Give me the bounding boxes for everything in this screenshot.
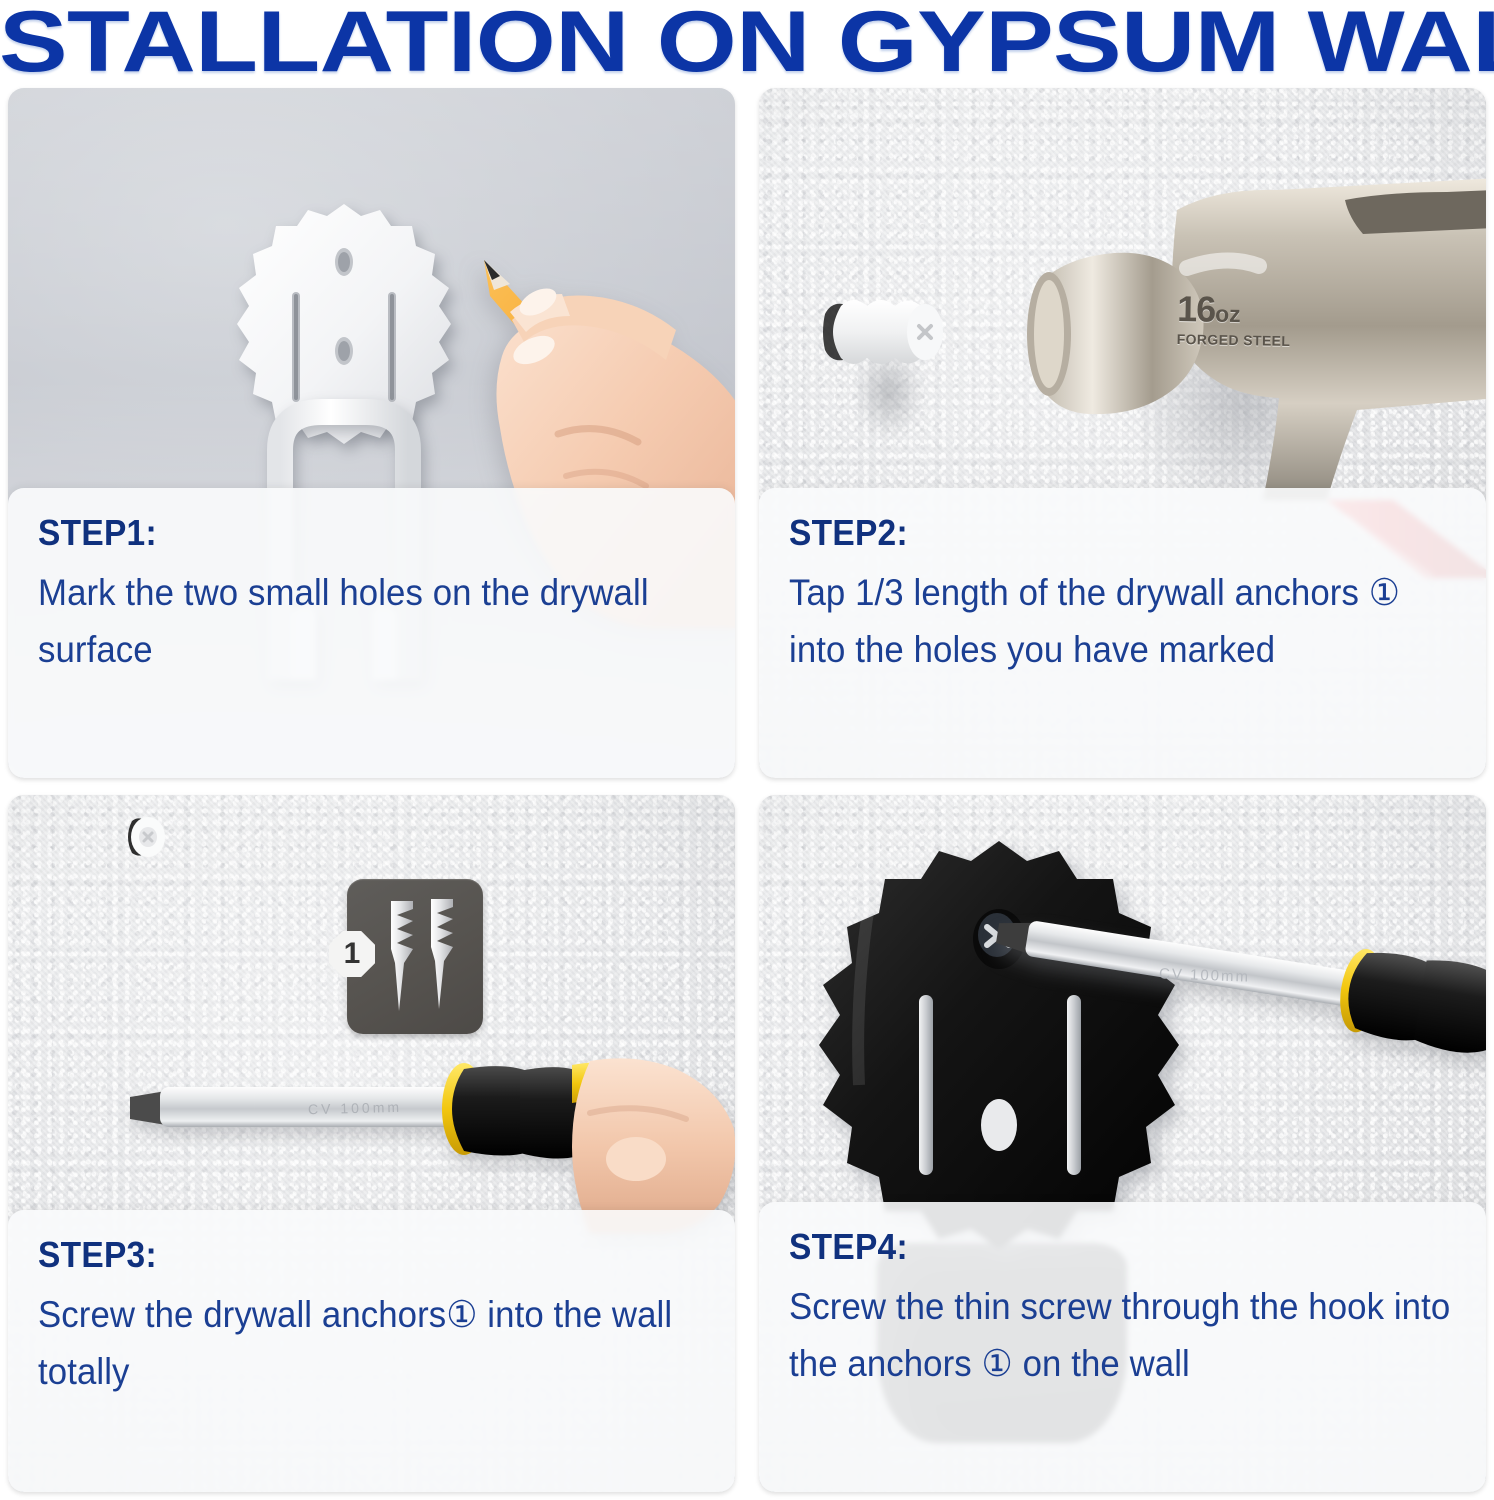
step-4-body: Screw the thin screw through the hook in… <box>789 1279 1454 1391</box>
steps-grid: STEP1: Mark the two small holes on the d… <box>8 88 1486 1492</box>
parts-badge-number: 1 <box>329 931 375 977</box>
hammer-weight-stamp: 16oz FORGED STEEL <box>1177 291 1292 348</box>
step-1-heading: STEP1: <box>38 512 658 553</box>
step-4-heading: STEP4: <box>789 1226 1409 1267</box>
step-panel-1: STEP1: Mark the two small holes on the d… <box>8 88 735 778</box>
parts-label-card: 1 <box>347 879 483 1034</box>
step-4-caption: STEP4: Screw the thin screw through the … <box>759 1202 1486 1492</box>
page-title-bar: INSTALLATION ON GYPSUM WALL <box>0 0 1494 82</box>
step-3-body: Screw the drywall anchors① into the wall… <box>38 1287 703 1399</box>
step-panel-4: CV 100mm STEP4: Screw the thin screw thr… <box>759 795 1486 1492</box>
step-2-body: Tap 1/3 length of the drywall anchors ① … <box>789 565 1454 677</box>
step-3-heading: STEP3: <box>38 1234 658 1275</box>
screwdriver-shaft-marking: CV 100mm <box>308 1099 402 1117</box>
drywall-anchor-icon <box>819 278 959 398</box>
page-title: INSTALLATION ON GYPSUM WALL <box>0 0 1494 82</box>
step-panel-3: 1 <box>8 795 735 1492</box>
hammer-weight-unit: oz <box>1215 301 1241 327</box>
hammer-material-stamp: FORGED STEEL <box>1177 332 1291 348</box>
step-2-heading: STEP2: <box>789 512 1409 553</box>
step-1-caption: STEP1: Mark the two small holes on the d… <box>8 488 735 778</box>
screwdriver-icon <box>120 1053 735 1233</box>
installed-anchor-head-icon <box>118 813 174 861</box>
step-1-body: Mark the two small holes on the drywall … <box>38 565 703 677</box>
screwdriver-shaft-marking: CV 100mm <box>1159 965 1251 985</box>
step-panel-2: 16oz FORGED STEEL STEP2: Tap 1/3 length … <box>759 88 1486 778</box>
step-3-caption: STEP3: Screw the drywall anchors① into t… <box>8 1210 735 1492</box>
hammer-weight-value: 16 <box>1177 288 1216 330</box>
step-2-caption: STEP2: Tap 1/3 length of the drywall anc… <box>759 488 1486 778</box>
